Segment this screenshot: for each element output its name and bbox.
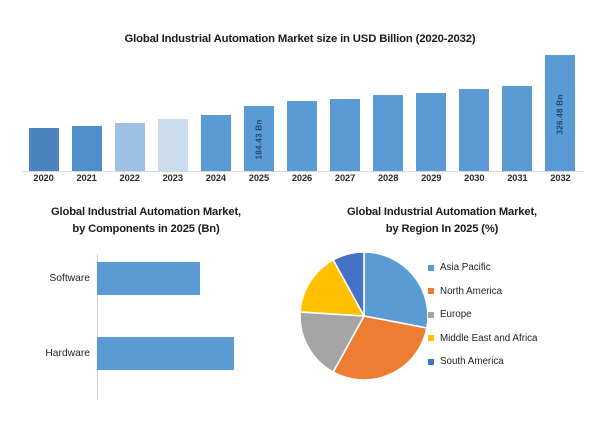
bar-chart-plot-area: 184.43 Bn326.48 Bn <box>22 52 582 171</box>
legend-swatch-icon <box>428 288 434 294</box>
bar-2024 <box>201 115 231 171</box>
bar-chart-x-axis <box>22 171 584 172</box>
legend-swatch-icon <box>428 312 434 318</box>
x-tick-2026: 2026 <box>281 173 323 183</box>
region-chart-title-line2: by Region In 2025 (%) <box>292 221 592 238</box>
bar-chart-title: Global Industrial Automation Market size… <box>0 33 600 45</box>
components-chart-title: Global Industrial Automation Market, by … <box>0 204 292 238</box>
bar-2026 <box>287 101 317 171</box>
legend-label: South America <box>440 356 504 367</box>
bar-2028 <box>373 95 403 171</box>
legend-item-north-america: North America <box>428 280 598 304</box>
region-legend: Asia PacificNorth AmericaEuropeMiddle Ea… <box>428 256 598 374</box>
bar-value-label-2032: 326.48 Bn <box>556 95 565 135</box>
legend-label: Asia Pacific <box>440 262 491 273</box>
component-row: Hardware <box>0 337 292 370</box>
x-tick-2029: 2029 <box>410 173 452 183</box>
component-bar-hardware <box>97 337 234 370</box>
components-chart-title-line1: Global Industrial Automation Market, <box>0 204 292 221</box>
legend-label: North America <box>440 286 502 297</box>
components-bar-chart: Global Industrial Automation Market, by … <box>0 196 292 441</box>
legend-swatch-icon <box>428 335 434 341</box>
legend-item-europe: Europe <box>428 303 598 327</box>
legend-label: Europe <box>440 309 472 320</box>
legend-label: Middle East and Africa <box>440 333 537 344</box>
bar-2029 <box>416 93 446 171</box>
bar-column <box>201 52 231 171</box>
legend-item-asia-pacific: Asia Pacific <box>428 256 598 280</box>
component-row: Software <box>0 262 292 295</box>
bar-column <box>416 52 446 171</box>
component-label-software: Software <box>0 273 90 284</box>
bar-column <box>502 52 532 171</box>
x-tick-2030: 2030 <box>453 173 495 183</box>
legend-swatch-icon <box>428 359 434 365</box>
component-bar-software <box>97 262 200 295</box>
bar-2030 <box>459 89 489 171</box>
bar-2027 <box>330 99 360 171</box>
bar-2031 <box>502 86 532 171</box>
region-pie-chart: Global Industrial Automation Market, by … <box>292 196 600 441</box>
x-tick-2025: 2025 <box>238 173 280 183</box>
bar-column <box>29 52 59 171</box>
components-chart-title-line2: by Components in 2025 (Bn) <box>0 221 292 238</box>
bar-2022 <box>115 123 145 171</box>
bar-2021 <box>72 126 102 171</box>
bar-column <box>330 52 360 171</box>
legend-swatch-icon <box>428 265 434 271</box>
x-tick-2032: 2032 <box>539 173 581 183</box>
region-chart-title: Global Industrial Automation Market, by … <box>292 204 592 238</box>
x-tick-2031: 2031 <box>496 173 538 183</box>
legend-item-middle-east-and-africa: Middle East and Africa <box>428 327 598 351</box>
bar-2020 <box>29 128 59 171</box>
bar-chart-x-tick-labels: 2020202120222023202420252026202720282029… <box>22 173 582 189</box>
bar-column <box>373 52 403 171</box>
bar-column: 326.48 Bn <box>545 52 575 171</box>
bar-column <box>115 52 145 171</box>
x-tick-2024: 2024 <box>195 173 237 183</box>
region-chart-title-line1: Global Industrial Automation Market, <box>292 204 592 221</box>
pie-slices <box>299 250 429 382</box>
bar-column <box>459 52 489 171</box>
bar-column <box>72 52 102 171</box>
bar-column: 184.43 Bn <box>244 52 274 171</box>
x-tick-2020: 2020 <box>23 173 65 183</box>
legend-item-south-america: South America <box>428 350 598 374</box>
x-tick-2022: 2022 <box>109 173 151 183</box>
bar-column <box>287 52 317 171</box>
x-tick-2021: 2021 <box>66 173 108 183</box>
pie-slice-asia-pacific <box>364 252 428 328</box>
component-label-hardware: Hardware <box>0 348 90 359</box>
x-tick-2027: 2027 <box>324 173 366 183</box>
bar-column <box>158 52 188 171</box>
bar-value-label-2025: 184.43 Bn <box>254 120 263 160</box>
infographic-canvas: Global Industrial Automation Market size… <box>0 0 600 441</box>
market-size-bar-chart: Global Industrial Automation Market size… <box>0 0 600 192</box>
x-tick-2023: 2023 <box>152 173 194 183</box>
bar-2023 <box>158 119 188 171</box>
x-tick-2028: 2028 <box>367 173 409 183</box>
